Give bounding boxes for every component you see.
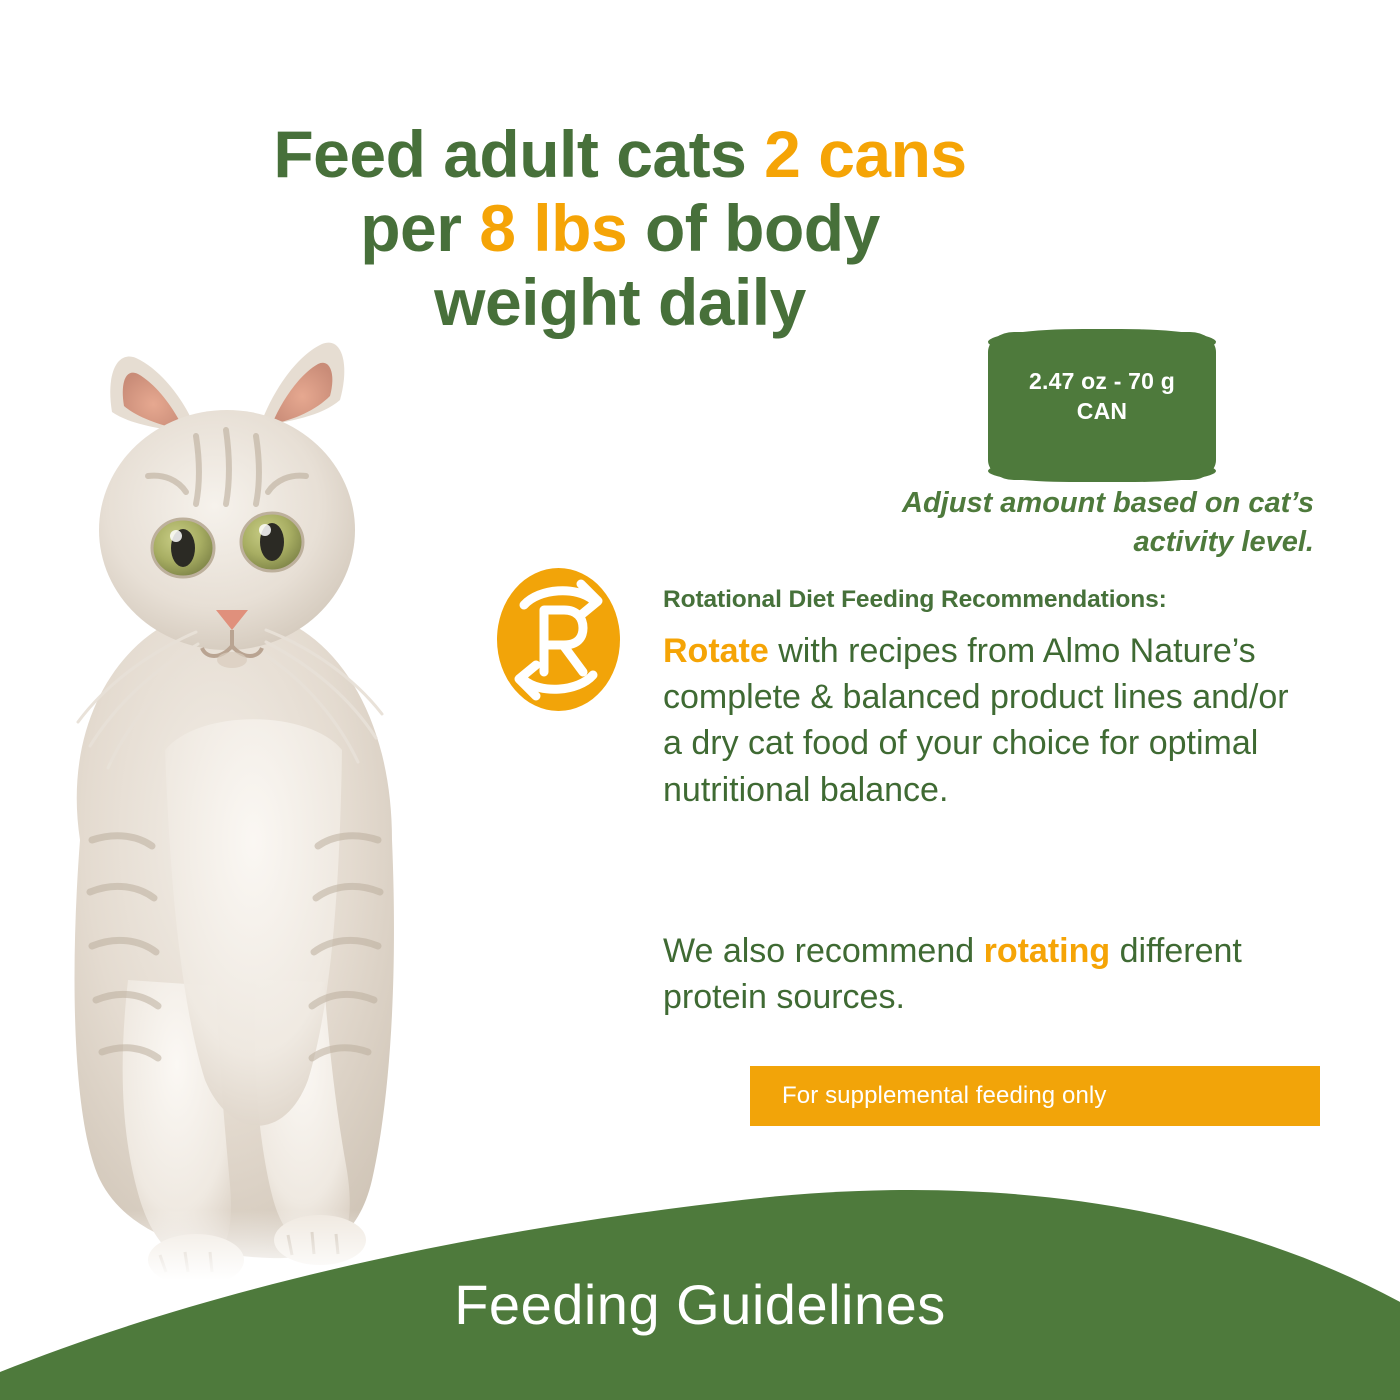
adjust-amount-note: Adjust amount based on cat’s activity le… [874, 484, 1314, 561]
can-graphic: 2.47 oz - 70 g CAN [988, 332, 1216, 480]
headline-line-1: Feed adult cats 2 cans [170, 118, 1070, 192]
protein-rotation-recommendation: We also recommend rotating different pro… [663, 928, 1308, 1020]
can-label: 2.47 oz - 70 g CAN [988, 332, 1216, 427]
supplemental-feeding-banner: For supplemental feeding only [750, 1066, 1320, 1126]
supplemental-feeding-text: For supplemental feeding only [750, 1082, 1106, 1110]
can-size-label: 2.47 oz - 70 g [1029, 368, 1175, 394]
can-unit-label: CAN [988, 396, 1216, 426]
headline-line-2: per 8 lbs of body [170, 192, 1070, 266]
rotate-accent-word: Rotate [663, 632, 769, 670]
rotational-diet-title: Rotational Diet Feeding Recommendations: [663, 586, 1308, 614]
headline-accent-lbs: 8 lbs [479, 191, 627, 265]
headline-line-2-pre: per [360, 191, 479, 265]
rotate-r-icon [497, 568, 620, 711]
infographic-canvas: Feed adult cats 2 cans per 8 lbs of body… [0, 0, 1400, 1400]
rotating-accent-word: rotating [984, 932, 1111, 970]
cat-photo [20, 280, 450, 1280]
bottom-banner-title: Feeding Guidelines [0, 1272, 1400, 1337]
headline-line-1-text: Feed adult cats [273, 117, 764, 191]
headline-accent-cans: 2 cans [764, 117, 966, 191]
rotational-diet-block: Rotational Diet Feeding Recommendations:… [663, 586, 1308, 813]
headline: Feed adult cats 2 cans per 8 lbs of body… [170, 118, 1070, 340]
rotational-diet-body: Rotate with recipes from Almo Nature’s c… [663, 628, 1308, 813]
headline-line-2-post: of body [627, 191, 880, 265]
headline-line-3: weight daily [170, 266, 1070, 340]
recommend-pre-text: We also recommend [663, 932, 984, 970]
